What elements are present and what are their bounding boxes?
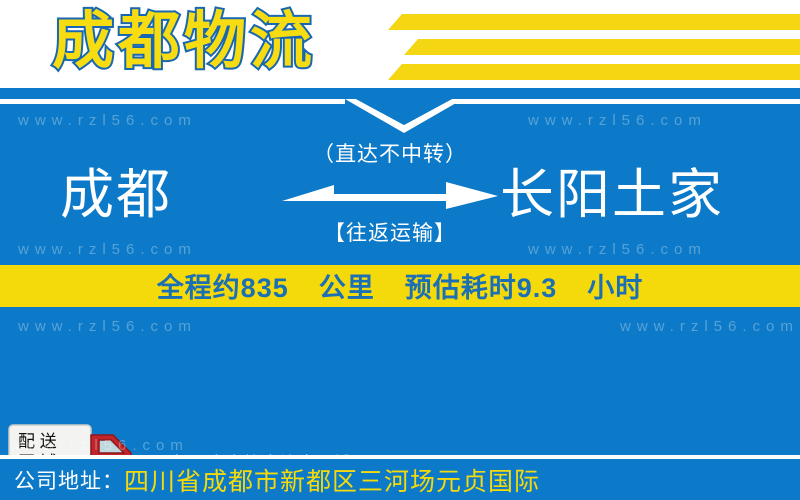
logistics-route-poster: 成都物流 成都 （直达不中转） 【往返运输	[0, 0, 800, 500]
route-section: 成都 （直达不中转） 【往返运输】 长阳土家	[0, 88, 800, 265]
page-title: 成都物流	[52, 4, 316, 80]
stats-band: 全程约835 公里 预估耗时9.3 小时	[0, 265, 800, 307]
decorative-stripes-icon	[380, 14, 800, 80]
truck-box-text-line1: 配 送	[18, 432, 57, 451]
route-note: （直达不中转）	[282, 140, 498, 170]
origin-city: 成都	[60, 162, 172, 228]
address-label: 公司地址：	[14, 465, 124, 495]
duration-value: 预估耗时9.3	[405, 266, 558, 305]
chevron-down-icon	[0, 99, 800, 133]
destination-city: 长阳土家	[500, 162, 724, 228]
distance-unit: 公里	[319, 266, 375, 305]
poster-header: 成都物流	[0, 0, 800, 88]
company-address-bar: 公司地址： 四川省成都市新都区三河场元贞国际	[0, 459, 800, 500]
distance-value: 全程约835	[157, 266, 289, 305]
bidirectional-arrow-icon	[282, 174, 498, 212]
duration-unit: 小时	[587, 266, 643, 305]
address-value: 四川省成都市新都区三河场元贞国际	[124, 462, 540, 498]
route-middle-group: （直达不中转） 【往返运输】	[282, 140, 498, 249]
route-tag: 【往返运输】	[282, 219, 498, 249]
poster-body: 成都 （直达不中转） 【往返运输】 长阳土家 全程约835 公里 预估耗时9.3…	[0, 88, 800, 500]
